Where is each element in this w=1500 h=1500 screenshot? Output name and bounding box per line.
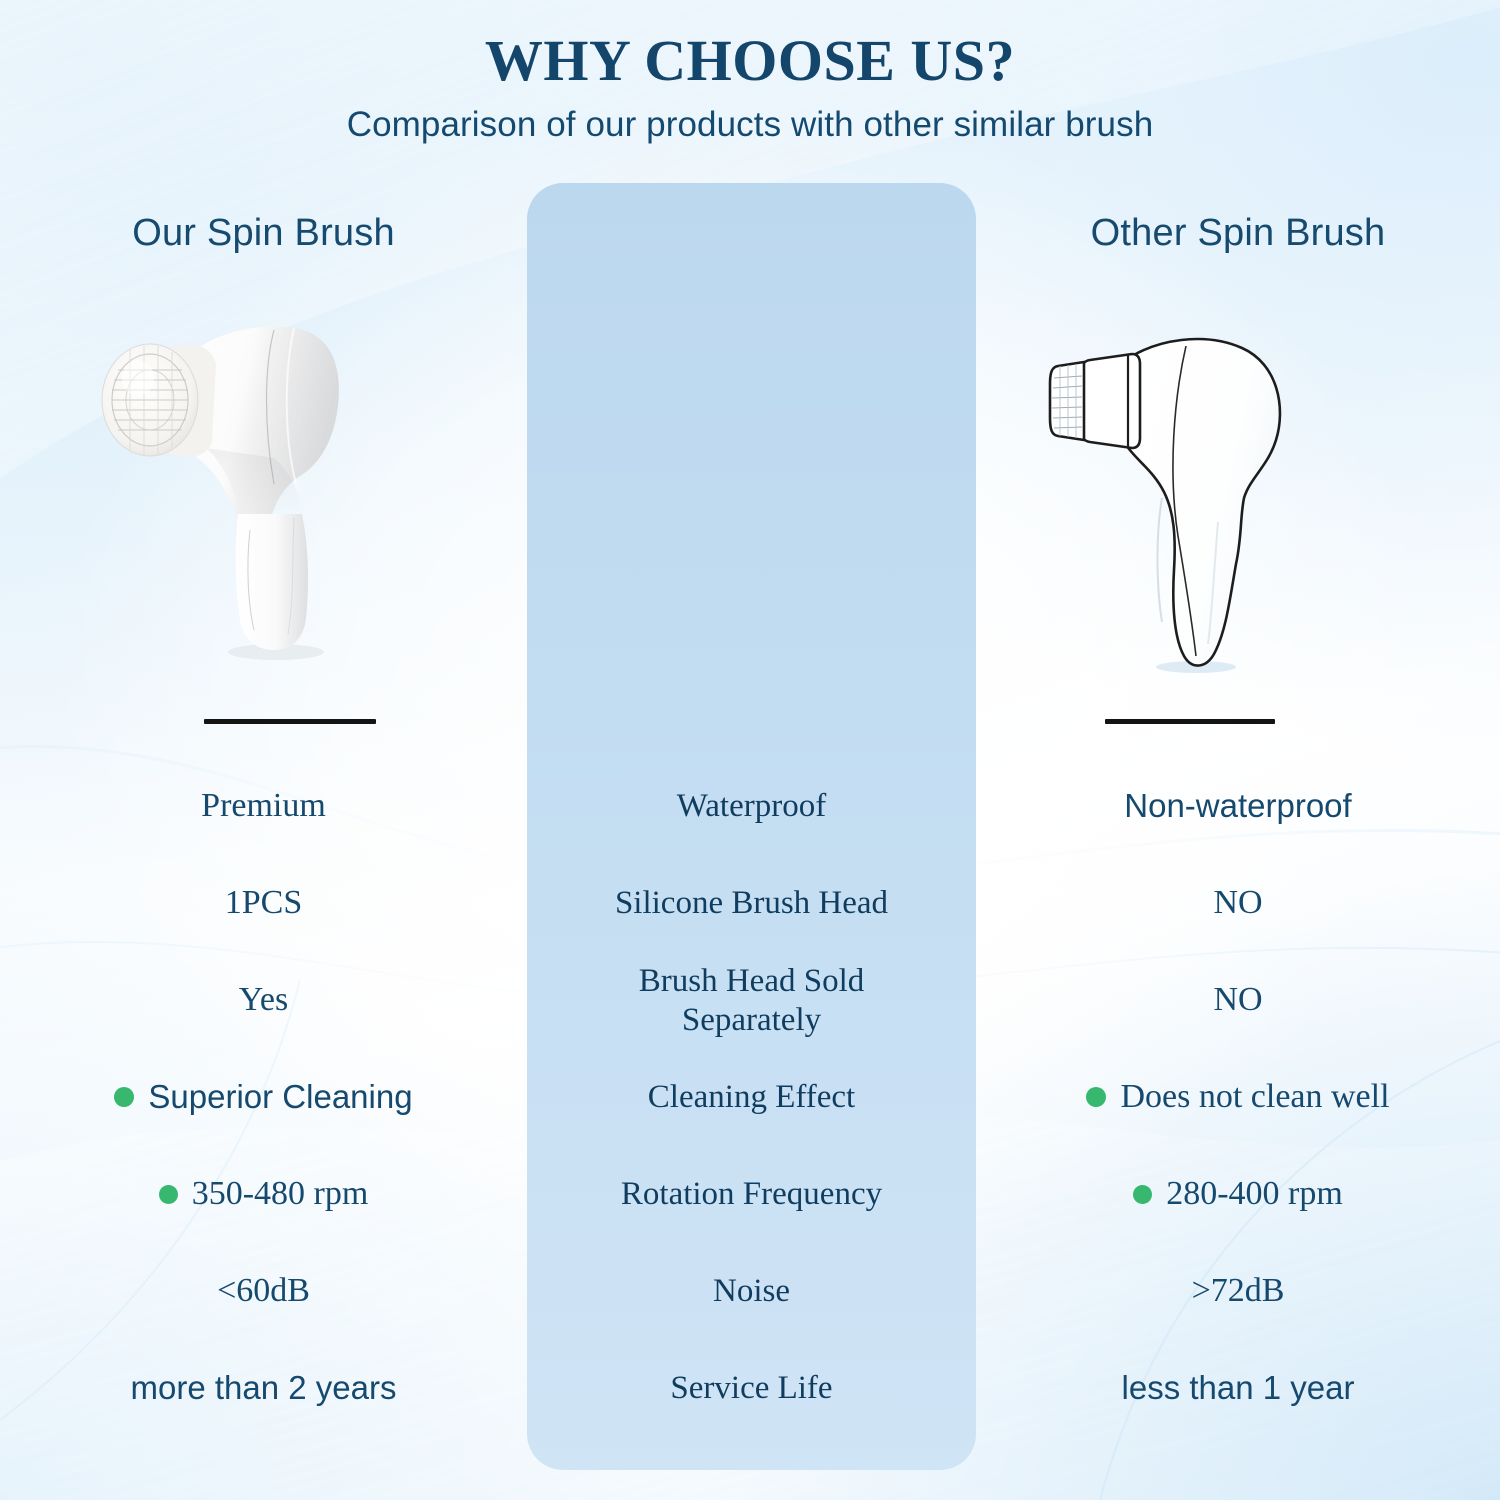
feature-row: Service Life	[527, 1340, 976, 1437]
value-cleaning-effect: Superior Cleaning	[148, 1079, 412, 1116]
product-image-other-brush-zone	[976, 300, 1500, 690]
value-rotation-frequency: 280-400 rpm	[1166, 1175, 1343, 1213]
value-row: less than 1 year	[976, 1340, 1500, 1437]
bullet-dot-icon	[114, 1087, 134, 1107]
value-row: Does not clean well	[976, 1049, 1500, 1146]
value-row: Superior Cleaning	[0, 1049, 527, 1146]
value-premium: Premium	[201, 787, 326, 825]
value-row: Premium	[0, 758, 527, 855]
value-quantity: NO	[1213, 884, 1262, 922]
feature-row: Rotation Frequency	[527, 1146, 976, 1243]
value-rotation-frequency-wrap: 350-480 rpm	[159, 1175, 369, 1213]
value-non-waterproof: Non-waterproof	[1124, 788, 1351, 825]
column-header-other-brush: Other Spin Brush	[976, 212, 1500, 255]
value-cleaning-effect-wrap: Does not clean well	[1086, 1078, 1389, 1116]
value-service-life: less than 1 year	[1122, 1370, 1355, 1407]
feature-row: Brush Head Sold Separately	[527, 952, 976, 1049]
feature-silicone-brush-head: Silicone Brush Head	[615, 885, 888, 922]
column-other-product: Other Spin Brush	[976, 0, 1500, 1500]
value-row: <60dB	[0, 1243, 527, 1340]
feature-row: Silicone Brush Head	[527, 855, 976, 952]
column-our-product: Our Spin Brush	[0, 0, 527, 1500]
bullet-dot-icon	[159, 1185, 178, 1204]
feature-service-life: Service Life	[670, 1370, 832, 1407]
other-spin-brush-outline-icon	[1028, 322, 1328, 682]
column-features: Waterproof Silicone Brush Head Brush Hea…	[527, 0, 976, 1500]
product-image-our-brush-zone	[0, 300, 527, 690]
value-cleaning-effect-wrap: Superior Cleaning	[114, 1079, 412, 1116]
value-row: >72dB	[976, 1243, 1500, 1340]
feature-cleaning-effect: Cleaning Effect	[648, 1079, 855, 1116]
bullet-dot-icon	[1086, 1087, 1106, 1107]
value-row: 350-480 rpm	[0, 1146, 527, 1243]
page-title: WHY CHOOSE US?	[0, 0, 1500, 93]
spin-brush-photo-icon	[88, 308, 378, 668]
value-rows-our-brush: Premium 1PCS Yes Superior Cleaning	[0, 758, 527, 1437]
column-header-our-brush: Our Spin Brush	[0, 212, 527, 255]
feature-rows: Waterproof Silicone Brush Head Brush Hea…	[527, 758, 976, 1437]
value-row: Yes	[0, 952, 527, 1049]
divider-our-brush	[204, 719, 376, 724]
value-rotation-frequency-wrap: 280-400 rpm	[1133, 1175, 1343, 1213]
value-service-life: more than 2 years	[131, 1370, 397, 1407]
feature-rotation-frequency: Rotation Frequency	[621, 1176, 882, 1213]
feature-waterproof: Waterproof	[677, 788, 826, 825]
feature-noise: Noise	[713, 1273, 790, 1310]
value-brush-head-sold-separately: Yes	[239, 981, 288, 1019]
comparison-infographic: WHY CHOOSE US? Comparison of our product…	[0, 0, 1500, 1500]
value-noise: >72dB	[1192, 1272, 1285, 1310]
value-row: NO	[976, 855, 1500, 952]
value-quantity: 1PCS	[225, 884, 303, 922]
page-subtitle: Comparison of our products with other si…	[0, 93, 1500, 145]
value-row: NO	[976, 952, 1500, 1049]
value-row: 1PCS	[0, 855, 527, 952]
value-cleaning-effect: Does not clean well	[1120, 1078, 1389, 1116]
value-rows-other-brush: Non-waterproof NO NO Does not clean well	[976, 758, 1500, 1437]
divider-other-brush	[1105, 719, 1275, 724]
value-row: Non-waterproof	[976, 758, 1500, 855]
header: WHY CHOOSE US? Comparison of our product…	[0, 0, 1500, 145]
comparison-columns: Our Spin Brush	[0, 0, 1500, 1500]
feature-row: Noise	[527, 1243, 976, 1340]
value-row: more than 2 years	[0, 1340, 527, 1437]
feature-row: Waterproof	[527, 758, 976, 855]
value-rotation-frequency: 350-480 rpm	[192, 1175, 369, 1213]
value-row: 280-400 rpm	[976, 1146, 1500, 1243]
value-brush-head-sold-separately: NO	[1213, 981, 1262, 1019]
value-noise: <60dB	[217, 1272, 310, 1310]
bullet-dot-icon	[1133, 1185, 1152, 1204]
feature-row: Cleaning Effect	[527, 1049, 976, 1146]
feature-brush-head-sold-separately: Brush Head Sold Separately	[639, 962, 865, 1039]
